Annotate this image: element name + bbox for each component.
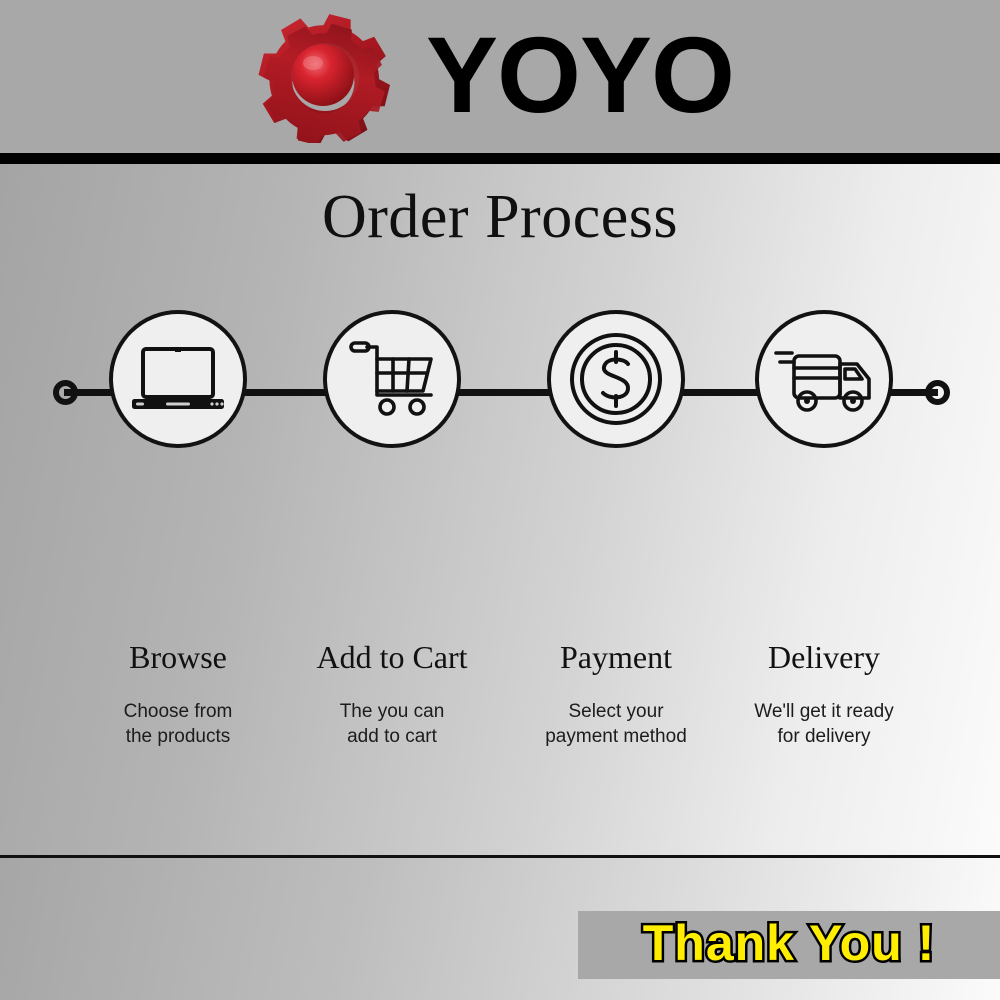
order-process-timeline [0, 310, 1000, 480]
gear-sphere-logo-icon [250, 11, 400, 143]
dollar-coin-icon [568, 331, 664, 427]
thank-you-text: Thank You ! [643, 918, 936, 968]
timeline-end-dot-icon [925, 380, 950, 405]
footer-divider [0, 855, 1000, 858]
brand-name: YOYO [426, 21, 734, 129]
step-text-delivery: Delivery We'll get it ready for delivery [709, 641, 939, 749]
page-title: Order Process [0, 186, 1000, 248]
step-description: We'll get it ready for delivery [709, 699, 939, 749]
main-canvas [0, 164, 1000, 855]
step-node-payment[interactable] [547, 310, 685, 448]
shopping-cart-icon [347, 338, 437, 420]
header-divider [0, 153, 1000, 164]
step-text-payment: Payment Select your payment method [501, 641, 731, 749]
laptop-icon [130, 344, 226, 414]
timeline-start-dot-icon [53, 380, 78, 405]
step-title: Payment [501, 641, 731, 673]
delivery-truck-icon [774, 341, 874, 417]
brand-lockup: YOYO [250, 11, 734, 143]
step-text-browse: Browse Choose from the products [63, 641, 293, 749]
step-title: Browse [63, 641, 293, 673]
step-node-add-to-cart[interactable] [323, 310, 461, 448]
step-text-add-to-cart: Add to Cart The you can add to cart [277, 641, 507, 749]
step-title: Add to Cart [277, 641, 507, 673]
thank-you-banner: Thank You ! [578, 911, 1000, 979]
step-description: Select your payment method [501, 699, 731, 749]
step-description: The you can add to cart [277, 699, 507, 749]
step-title: Delivery [709, 641, 939, 673]
step-node-delivery[interactable] [755, 310, 893, 448]
step-node-browse[interactable] [109, 310, 247, 448]
step-description: Choose from the products [63, 699, 293, 749]
slide-root: YOYO Order Process [0, 0, 1000, 1000]
header-bar: YOYO [0, 0, 1000, 153]
